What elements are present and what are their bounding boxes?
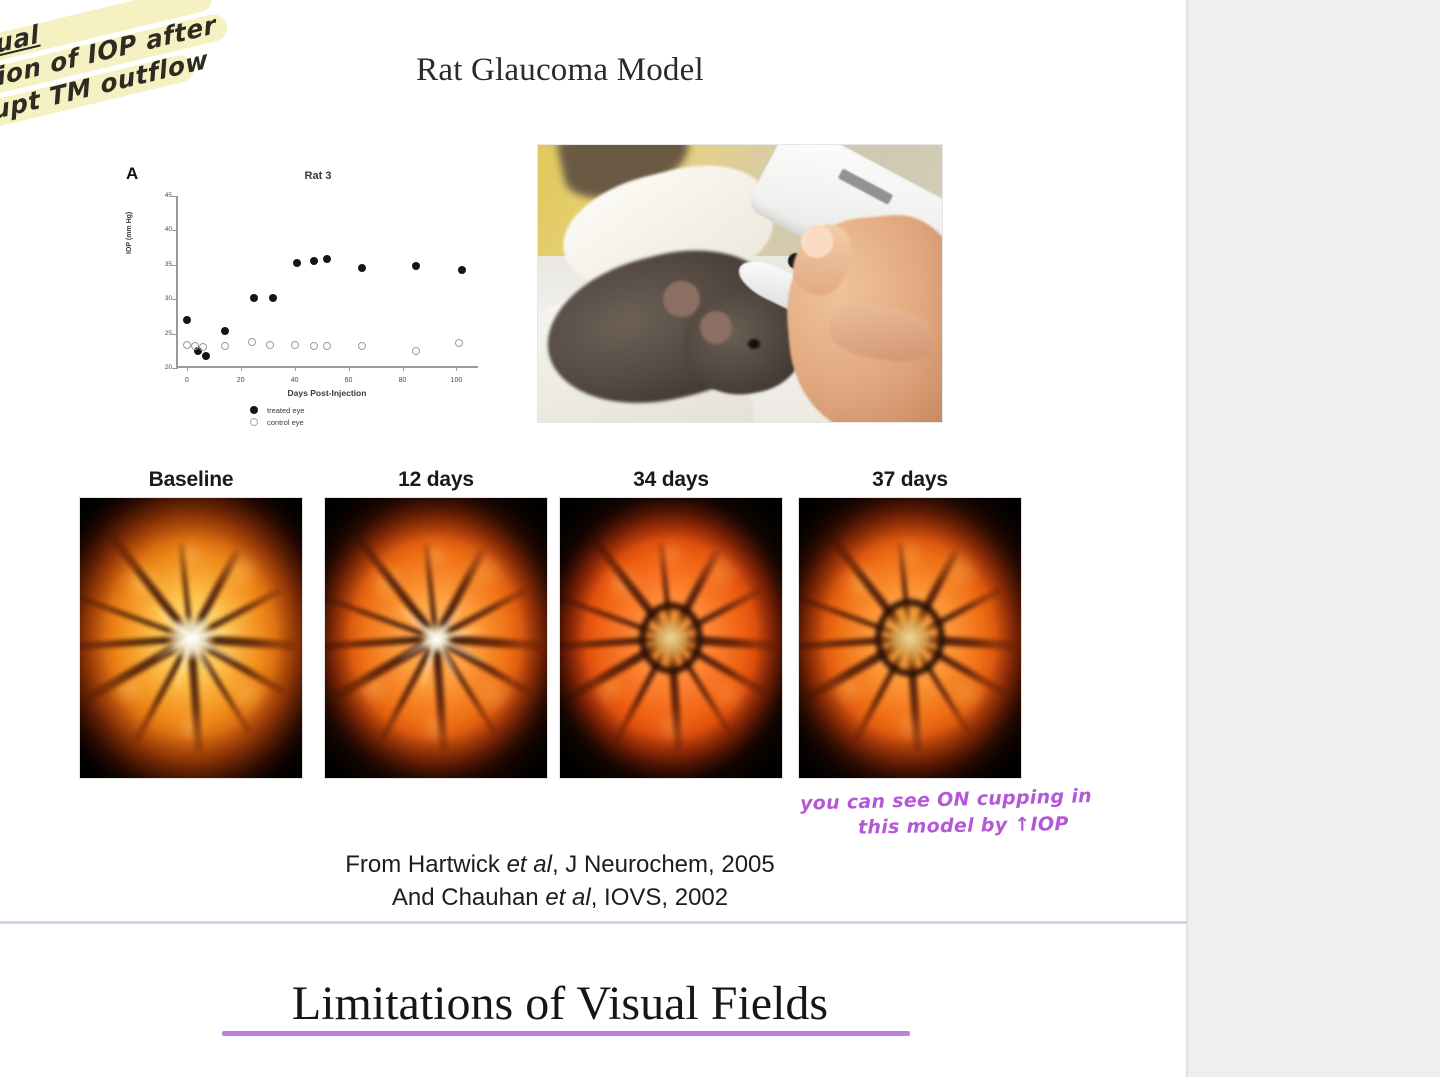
screenshot-viewport: Rat Glaucoma Model dual tion of IOP afte… [0,0,1440,1077]
slide-rat-glaucoma-model: Rat Glaucoma Model dual tion of IOP afte… [0,0,1186,922]
fundus-37-days-image [799,498,1021,778]
chart-x-tick [295,367,296,371]
citation-line-1: From Hartwick et al, J Neurochem, 2005 [0,848,1120,881]
chart-point-treated [323,255,331,263]
purple-note-line-2: this model by ↑IOP [858,809,1160,840]
chart-x-tick-label: 80 [399,377,407,384]
chart-y-tick-label: 20 [150,364,172,371]
chart-y-tick-label: 25 [150,330,172,337]
chart-x-tick-label: 20 [237,377,245,384]
chart-point-control [291,341,299,349]
chart-y-tick [172,265,178,266]
chart-y-axis [176,196,178,368]
legend-item: control eye [250,416,305,428]
page-title: Rat Glaucoma Model [0,52,1120,89]
citation-block: From Hartwick et al, J Neurochem, 2005 A… [0,848,1120,914]
legend-marker-icon [250,418,258,426]
document-page: Rat Glaucoma Model dual tion of IOP afte… [0,0,1186,1077]
fundus-37-days-label: 37 days [799,468,1021,492]
fundus-vignette [799,498,1021,778]
fundus-34-days-cell: 34 days [560,468,782,778]
chart-y-tick-label: 40 [150,226,172,233]
fundus-12-days-image [325,498,547,778]
chart-title: Rat 3 [118,170,518,182]
chart-x-tick-label: 0 [185,377,189,384]
chart-point-treated [221,327,229,335]
chart-point-control [199,343,207,351]
citation-2-etal: et al [545,884,590,911]
photo-rat-ear [663,281,699,317]
citation-line-2: And Chauhan et al, IOVS, 2002 [0,881,1120,914]
chart-x-tick [187,367,188,371]
chart-point-control [310,342,318,350]
fundus-12-days-cell: 12 days [325,468,547,778]
handwritten-annotation-purple: you can see ON cupping in this model by … [800,786,1160,844]
chart-x-tick-label: 100 [451,377,463,384]
chart-point-treated [293,259,301,267]
photo-rat-ear [700,311,732,344]
fundus-37-days-cell: 37 days [799,468,1021,778]
chart-point-control [412,347,420,355]
chart-x-tick [241,367,242,371]
chart-y-tick [172,230,178,231]
chart-x-tick [456,367,457,371]
chart-point-control [191,342,199,350]
legend-item: treated eye [250,404,305,416]
chart-point-control [323,342,331,350]
chart-plot-area: 202530354045 020406080100 [176,196,478,368]
slide-limitations-of-visual-fields: Limitations of Visual Fields [0,924,1186,1077]
legend-label: control eye [267,418,304,427]
chart-point-treated [269,294,277,302]
chart-y-tick [172,299,178,300]
chart-point-treated [458,266,466,274]
chart-point-treated [412,262,420,270]
citation-2-prefix: And Chauhan [392,884,545,911]
chart-x-axis-label: Days Post-Injection [176,388,478,398]
citation-2-suffix: , IOVS, 2002 [591,884,728,911]
chart-point-control [358,342,366,350]
page-right-edge [1186,0,1189,1077]
fundus-image-series: Baseline12 days34 days37 days [80,468,1024,788]
chart-point-treated [183,316,191,324]
chart-point-control [221,342,229,350]
figure-panel-a: A Rat 3 IOP (mm Hg) 202530354045 0204060… [118,160,518,445]
legend-marker-icon [250,406,258,414]
chart-y-tick [172,334,178,335]
chart-point-control [266,341,274,349]
chart-y-tick-label: 45 [150,192,172,199]
chart-point-control [183,341,191,349]
chart-point-control [455,339,463,347]
chart-point-treated [310,257,318,265]
fundus-34-days-image [560,498,782,778]
fundus-vignette [80,498,302,778]
legend-label: treated eye [267,406,305,415]
fundus-baseline-image [80,498,302,778]
chart-point-treated [250,294,258,302]
title-underline [222,1031,910,1036]
chart-x-tick [349,367,350,371]
chart-point-control [248,338,256,346]
citation-1-etal: et al [507,851,552,878]
fundus-12-days-label: 12 days [325,468,547,492]
photo-rat-eye [748,339,760,349]
page-title: Limitations of Visual Fields [0,976,1120,1031]
chart-y-tick-label: 35 [150,261,172,268]
fundus-vignette [560,498,782,778]
rat-tonometry-photo [538,145,942,422]
chart-x-tick-label: 40 [291,377,299,384]
chart-point-treated [202,352,210,360]
fundus-baseline-label: Baseline [80,468,302,492]
chart-legend: treated eyecontrol eye [250,404,305,428]
chart-y-axis-label: IOP (mm Hg) [126,212,133,254]
fundus-baseline-cell: Baseline [80,468,302,778]
chart-x-tick-label: 60 [345,377,353,384]
chart-x-tick [403,367,404,371]
chart-point-treated [358,264,366,272]
fundus-vignette [325,498,547,778]
chart-y-tick-label: 30 [150,295,172,302]
citation-1-prefix: From Hartwick [345,851,506,878]
chart-y-tick [172,368,178,369]
chart-x-axis [176,366,478,368]
fundus-34-days-label: 34 days [560,468,782,492]
chart-y-tick [172,196,178,197]
citation-1-suffix: , J Neurochem, 2005 [552,851,775,878]
